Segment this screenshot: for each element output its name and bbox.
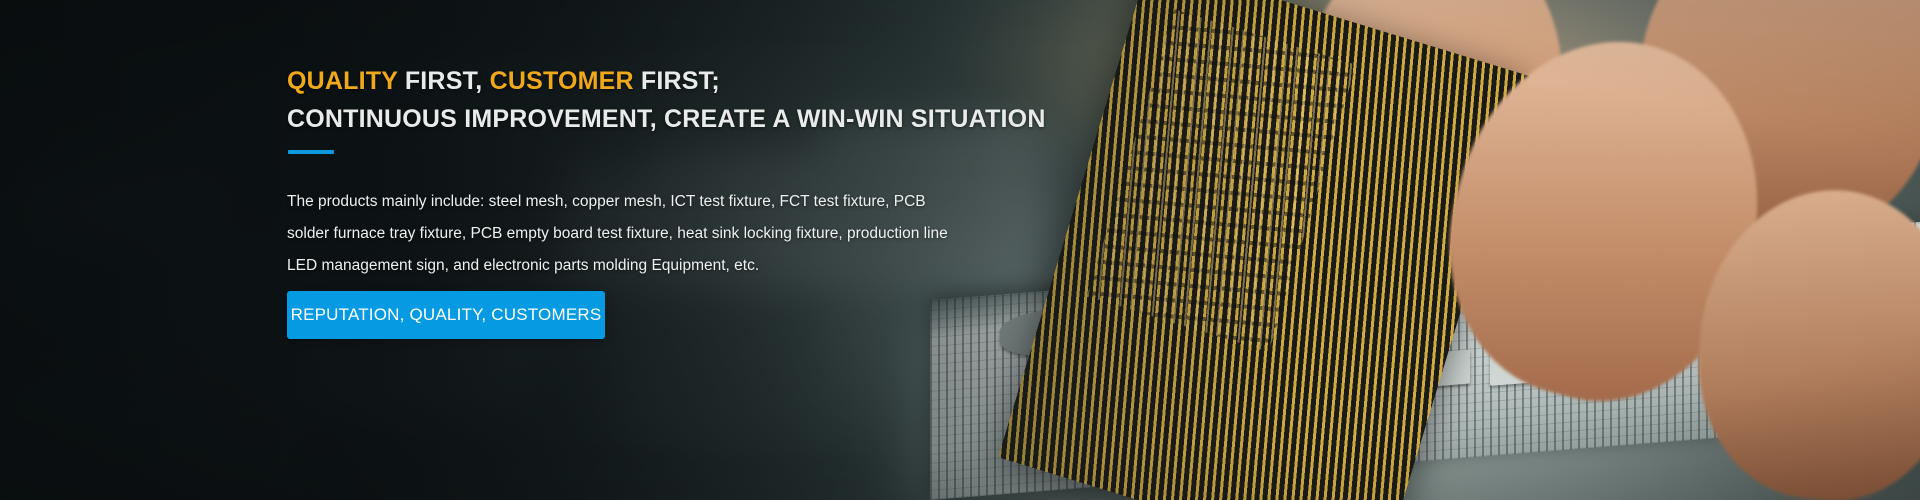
page-title: QUALITY FIRST, CUSTOMER FIRST; CONTINUOU… [287,62,1046,138]
headline-text-first: FIRST, [398,67,490,95]
headline-accent-customer: CUSTOMER [490,67,634,95]
description-text: The products mainly include: steel mesh,… [287,186,952,282]
cta-button[interactable]: REPUTATION, QUALITY, CUSTOMERS [287,291,605,339]
accent-divider [288,150,334,154]
hero-content: QUALITY FIRST, CUSTOMER FIRST; CONTINUOU… [287,0,1007,500]
hero-banner: QUALITY FIRST, CUSTOMER FIRST; CONTINUOU… [0,0,1920,500]
headline-text-first-2: FIRST; [634,67,720,95]
headline-accent-quality: QUALITY [287,67,398,95]
headline-line-2: CONTINUOUS IMPROVEMENT, CREATE A WIN-WIN… [287,105,1046,133]
